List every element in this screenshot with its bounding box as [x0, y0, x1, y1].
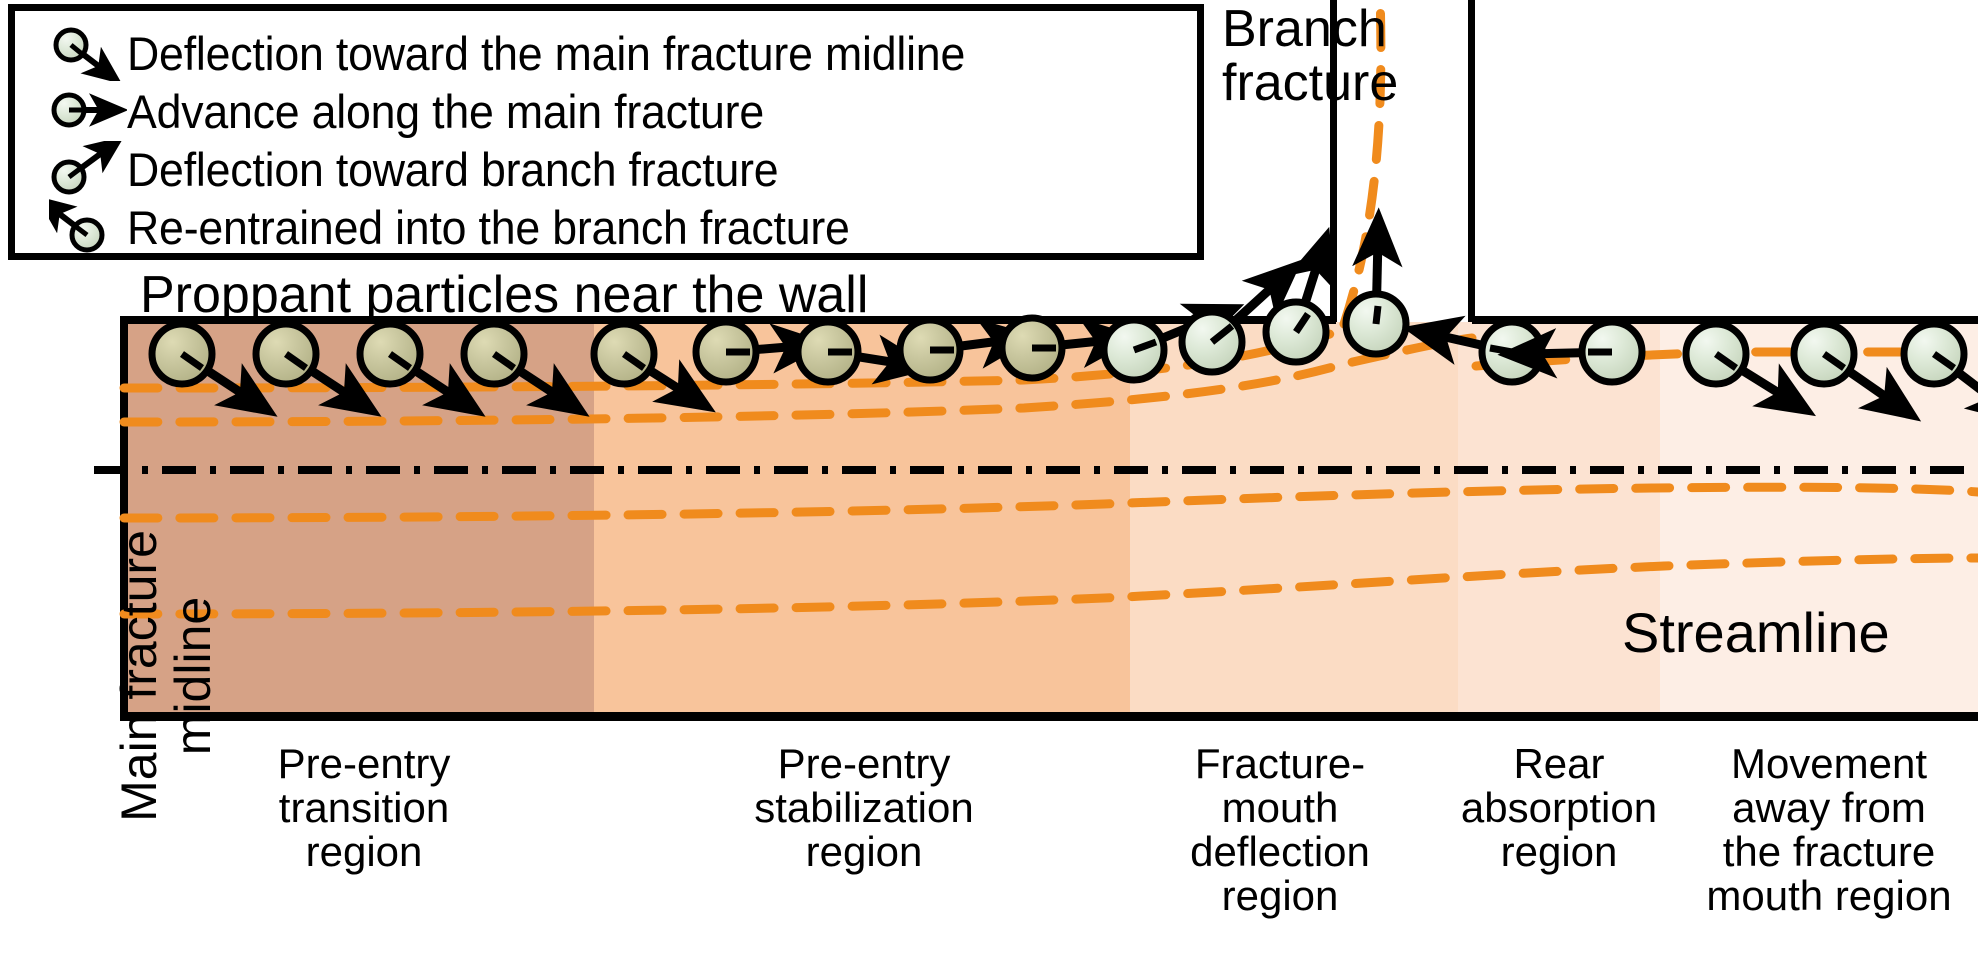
particle-reentrain-up-left-icon [49, 199, 127, 255]
branch-fracture-label-line1: Branch [1222, 2, 1542, 56]
legend-item-label: Advance along the main fracture [127, 88, 764, 135]
region-label-movement-away: Movement away from the fracture mouth re… [1676, 742, 1978, 918]
streamline-label: Streamline [1622, 604, 1890, 662]
particle-advance-right-icon [49, 83, 127, 139]
region-label-rear-absorption: Rear absorption region [1434, 742, 1684, 874]
particle-arrow [1794, 324, 1896, 404]
y-axis-label-line2: midline [166, 466, 220, 886]
region-label-line: absorption [1434, 786, 1684, 830]
legend-item-advance: Advance along the main fracture [49, 83, 797, 139]
legend-box: Deflection toward the main fracture midl… [8, 4, 1204, 260]
legend-item-label: Deflection toward the main fracture midl… [127, 30, 965, 77]
legend-item-label: Re-entrained into the branch fracture [127, 204, 850, 251]
region-label-pre-entry-stabilization: Pre-entry stabilization region [694, 742, 1034, 874]
particle-arrow [900, 320, 1008, 380]
particle-deflect-up-right-icon [49, 141, 127, 197]
region-label-pre-entry-transition: Pre-entry transition region [214, 742, 514, 874]
particle-arrow [1432, 322, 1542, 382]
region-label-line: Fracture- [1130, 742, 1430, 786]
proppant-near-wall-annotation: Proppant particles near the wall [140, 268, 868, 322]
region-label-line: Movement [1676, 742, 1978, 786]
region-label-line: Pre-entry [694, 742, 1034, 786]
region-label-line: region [214, 830, 514, 874]
region-label-line: transition [214, 786, 514, 830]
region-label-fracture-mouth-deflection: Fracture- mouth deflection region [1130, 742, 1430, 918]
region-label-line: away from [1676, 786, 1978, 830]
legend-item-deflect-midline: Deflection toward the main fracture midl… [49, 25, 1009, 81]
region-label-line: region [694, 830, 1034, 874]
region-label-line: the fracture [1676, 830, 1978, 874]
figure-root: Main fracture midline Pre-entry transiti… [0, 0, 1978, 973]
particle-group-rear-absorption [1432, 322, 1642, 382]
legend-item-reentrained: Re-entrained into the branch fracture [49, 199, 888, 255]
region-label-line: Rear [1434, 742, 1684, 786]
particle-group-movement-away [1686, 324, 1978, 406]
streamline-midlevel [124, 487, 1978, 518]
region-label-line: Pre-entry [214, 742, 514, 786]
branch-fracture-label: Branch fracture [1222, 2, 1542, 110]
particle-arrow [1904, 324, 1978, 406]
legend-item-deflect-branch: Deflection toward branch fracture [49, 141, 813, 197]
region-label-line: deflection [1130, 830, 1430, 874]
region-label-line: stabilization [694, 786, 1034, 830]
particle-arrow [1266, 256, 1326, 362]
particle-arrow [798, 322, 904, 382]
particle-arrow [1528, 322, 1642, 382]
region-label-line: region [1434, 830, 1684, 874]
region-label-line: region [1130, 874, 1430, 918]
region-label-line: mouth [1130, 786, 1430, 830]
branch-fracture-label-line2: fracture [1222, 56, 1542, 110]
particle-arrow [1002, 318, 1110, 378]
y-axis-label-line1: Main fracture [112, 466, 166, 886]
y-axis-label: Main fracture midline [112, 466, 220, 886]
particle-deflect-down-right-icon [49, 25, 127, 81]
legend-item-label: Deflection toward branch fracture [127, 146, 778, 193]
particle-arrow [696, 322, 800, 382]
particle-arrow [1686, 324, 1790, 400]
region-label-line: mouth region [1676, 874, 1978, 918]
